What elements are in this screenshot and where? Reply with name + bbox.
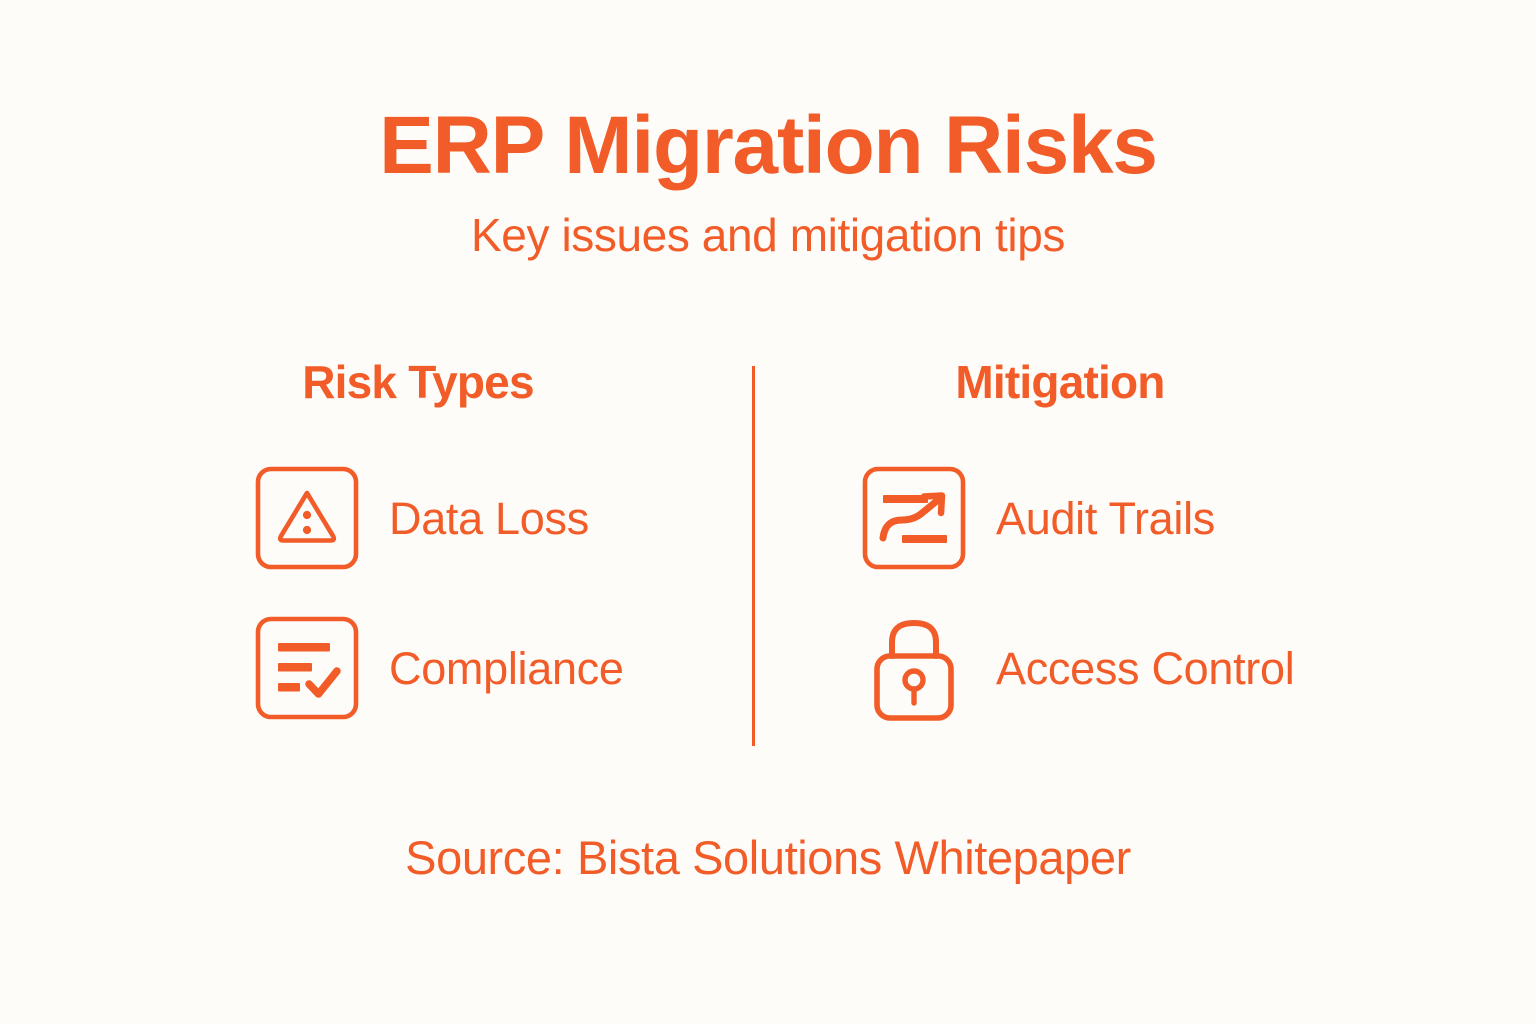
source-attribution: Source: Bista Solutions Whitepaper	[0, 830, 1536, 885]
erp-migration-risks-infographic: ERP Migration Risks Key issues and mitig…	[0, 0, 1536, 1024]
column-heading-risk-types: Risk Types	[88, 355, 748, 409]
column-mitigation: Mitigation Audit Trails	[790, 355, 1490, 762]
mitigation-list: Audit Trails Access Control	[790, 462, 1490, 724]
list-item-compliance[interactable]: Compliance	[255, 612, 744, 724]
item-label-data-loss: Data Loss	[389, 496, 589, 541]
item-label-audit-trails: Audit Trails	[996, 496, 1215, 541]
checklist-icon	[255, 612, 359, 724]
columns-container: Risk Types Data Loss	[0, 355, 1536, 755]
column-heading-mitigation: Mitigation	[790, 355, 1330, 409]
column-risk-types: Risk Types Data Loss	[44, 355, 744, 762]
page-title: ERP Migration Risks	[0, 104, 1536, 188]
item-label-access-control: Access Control	[996, 646, 1294, 691]
lock-icon	[862, 612, 966, 724]
risk-types-list: Data Loss Compliance	[44, 462, 744, 724]
footer: Source: Bista Solutions Whitepaper	[0, 830, 1536, 885]
item-label-compliance: Compliance	[389, 646, 624, 691]
column-divider	[752, 366, 755, 746]
warning-triangle-icon	[255, 462, 359, 574]
list-item-audit-trails[interactable]: Audit Trails	[862, 462, 1490, 574]
page-subtitle: Key issues and mitigation tips	[0, 210, 1536, 261]
header: ERP Migration Risks Key issues and mitig…	[0, 104, 1536, 260]
audit-trail-arrow-icon	[862, 462, 966, 574]
list-item-data-loss[interactable]: Data Loss	[255, 462, 744, 574]
list-item-access-control[interactable]: Access Control	[862, 612, 1490, 724]
